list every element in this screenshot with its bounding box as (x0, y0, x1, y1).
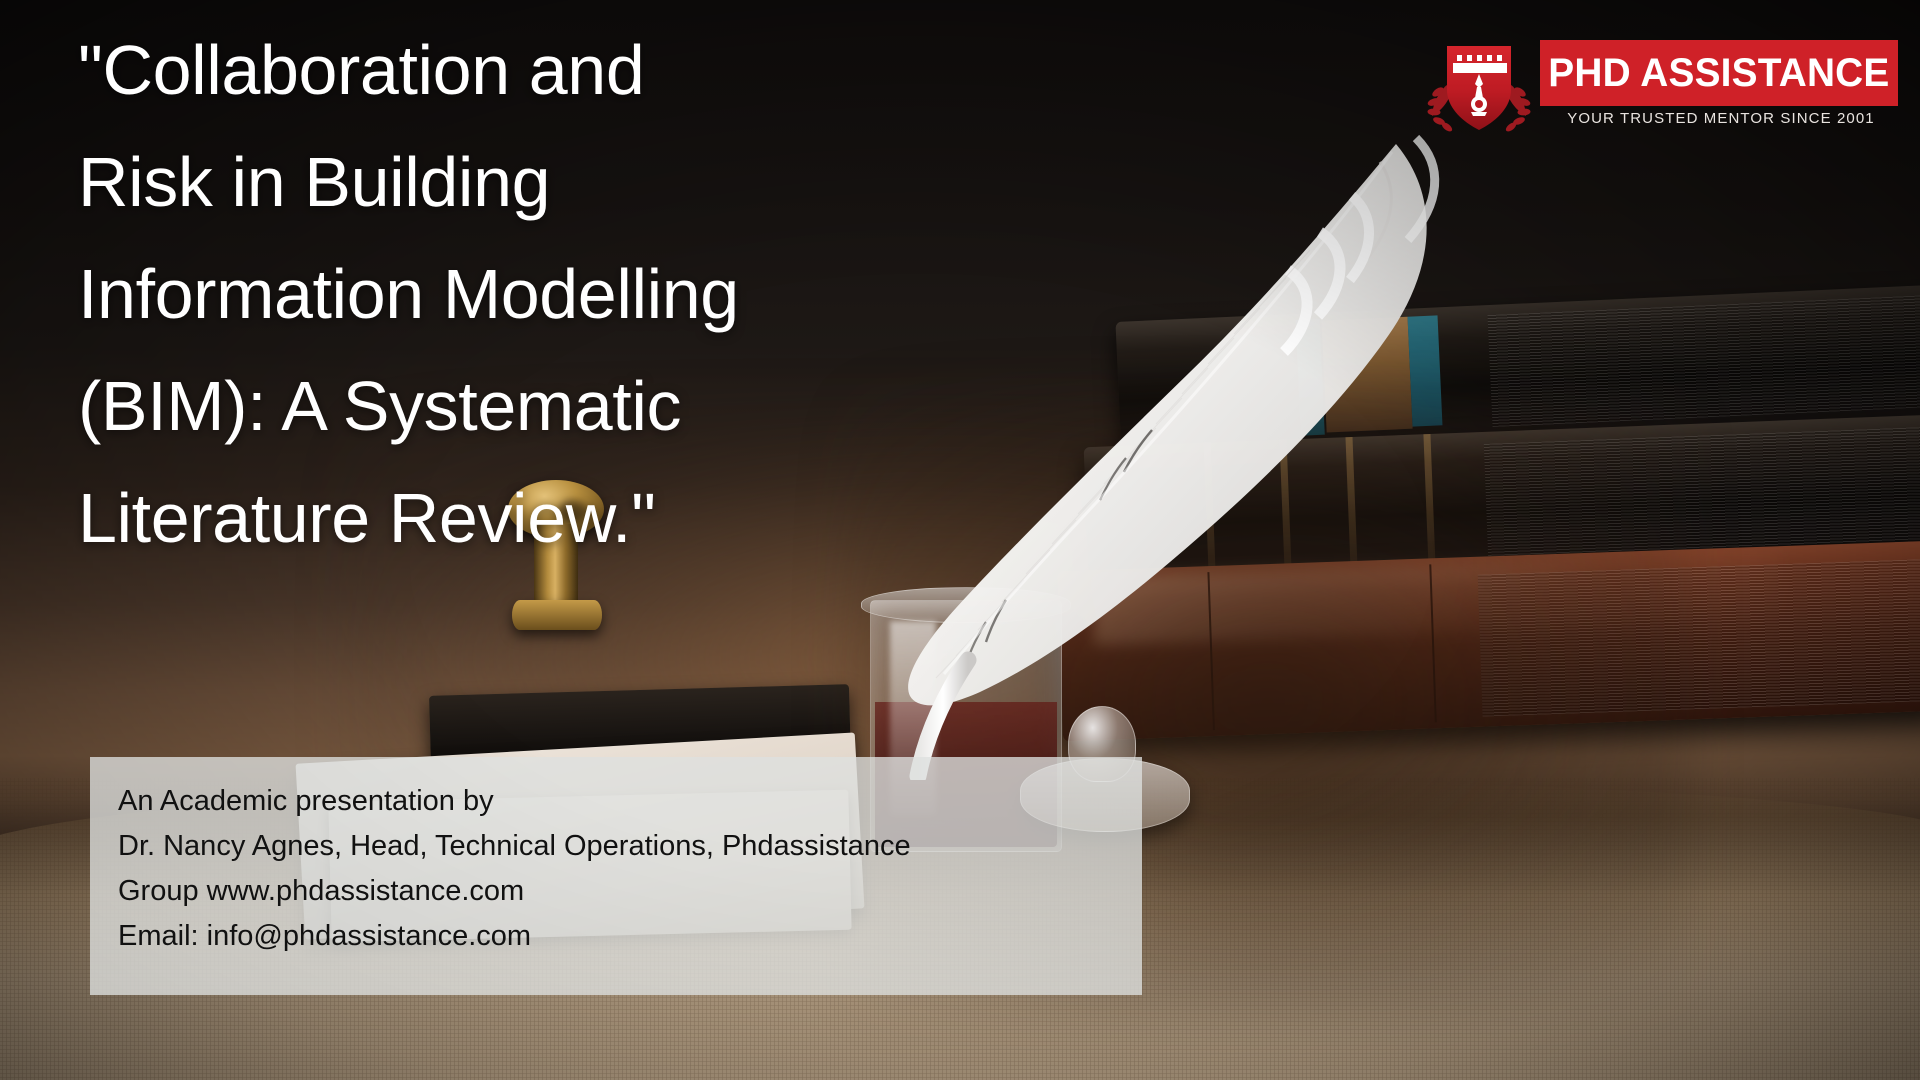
shield-laurel-crest-icon (1425, 40, 1533, 132)
logo-brand-text: PHD ASSISTANCE (1548, 51, 1889, 96)
slide-title: "Collaboration and Risk in Building Info… (78, 14, 978, 574)
title-line-2: Risk in Building (78, 126, 978, 238)
caption-line-presenter: Dr. Nancy Agnes, Head, Technical Operati… (118, 824, 1142, 869)
caption-line-presented-by: An Academic presentation by (118, 779, 1142, 824)
caption-line-email: Email: info@phdassistance.com (118, 914, 1142, 959)
caption-line-website: Group www.phdassistance.com (118, 869, 1142, 914)
phd-assistance-logo[interactable]: PHD ASSISTANCE YOUR TRUSTED MENTOR SINCE… (1425, 38, 1901, 136)
title-line-5: Literature Review." (78, 462, 978, 574)
title-line-3: Information Modelling (78, 238, 978, 350)
logo-banner: PHD ASSISTANCE (1540, 40, 1898, 106)
logo-tagline: YOUR TRUSTED MENTOR SINCE 2001 (1543, 110, 1899, 127)
presenter-caption-box: An Academic presentation by Dr. Nancy Ag… (90, 757, 1142, 995)
presentation-slide: "Collaboration and Risk in Building Info… (0, 0, 1920, 1080)
title-line-1: "Collaboration and (78, 14, 978, 126)
title-line-4: (BIM): A Systematic (78, 350, 978, 462)
